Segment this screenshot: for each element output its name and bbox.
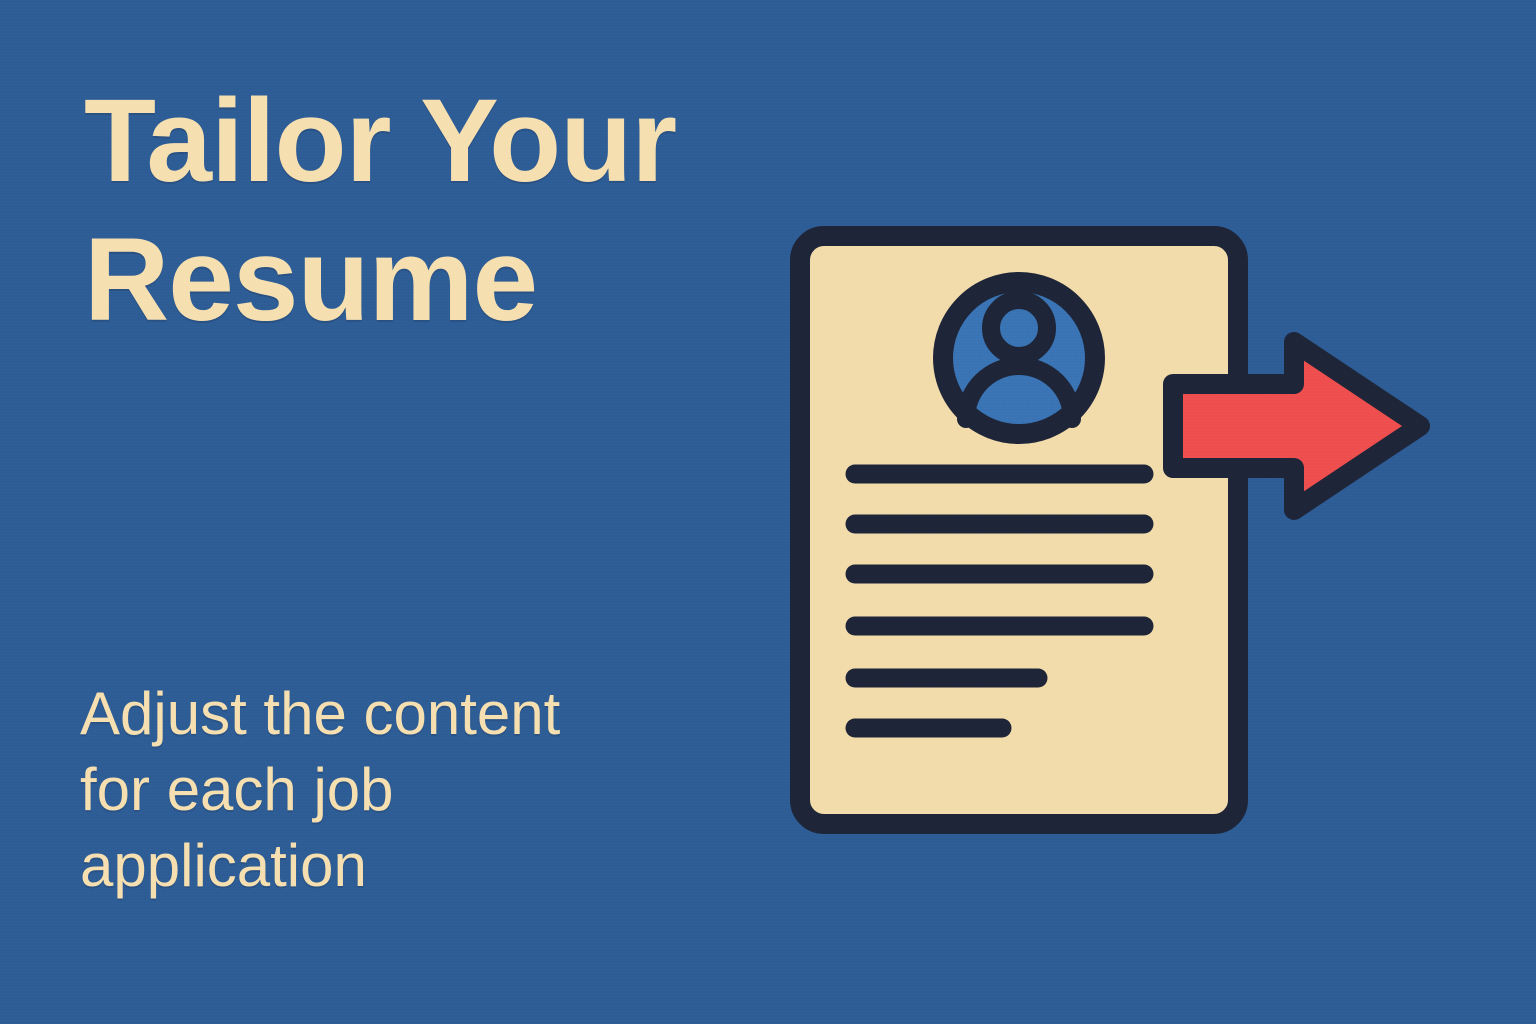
page-subtitle: Adjust the content for each job applicat… bbox=[80, 676, 720, 905]
slide-canvas: Tailor Your Resume Adjust the content fo… bbox=[0, 0, 1536, 1024]
page-title: Tailor Your Resume bbox=[84, 72, 784, 350]
resume-illustration bbox=[770, 200, 1450, 880]
avatar-person-icon bbox=[943, 282, 1095, 434]
